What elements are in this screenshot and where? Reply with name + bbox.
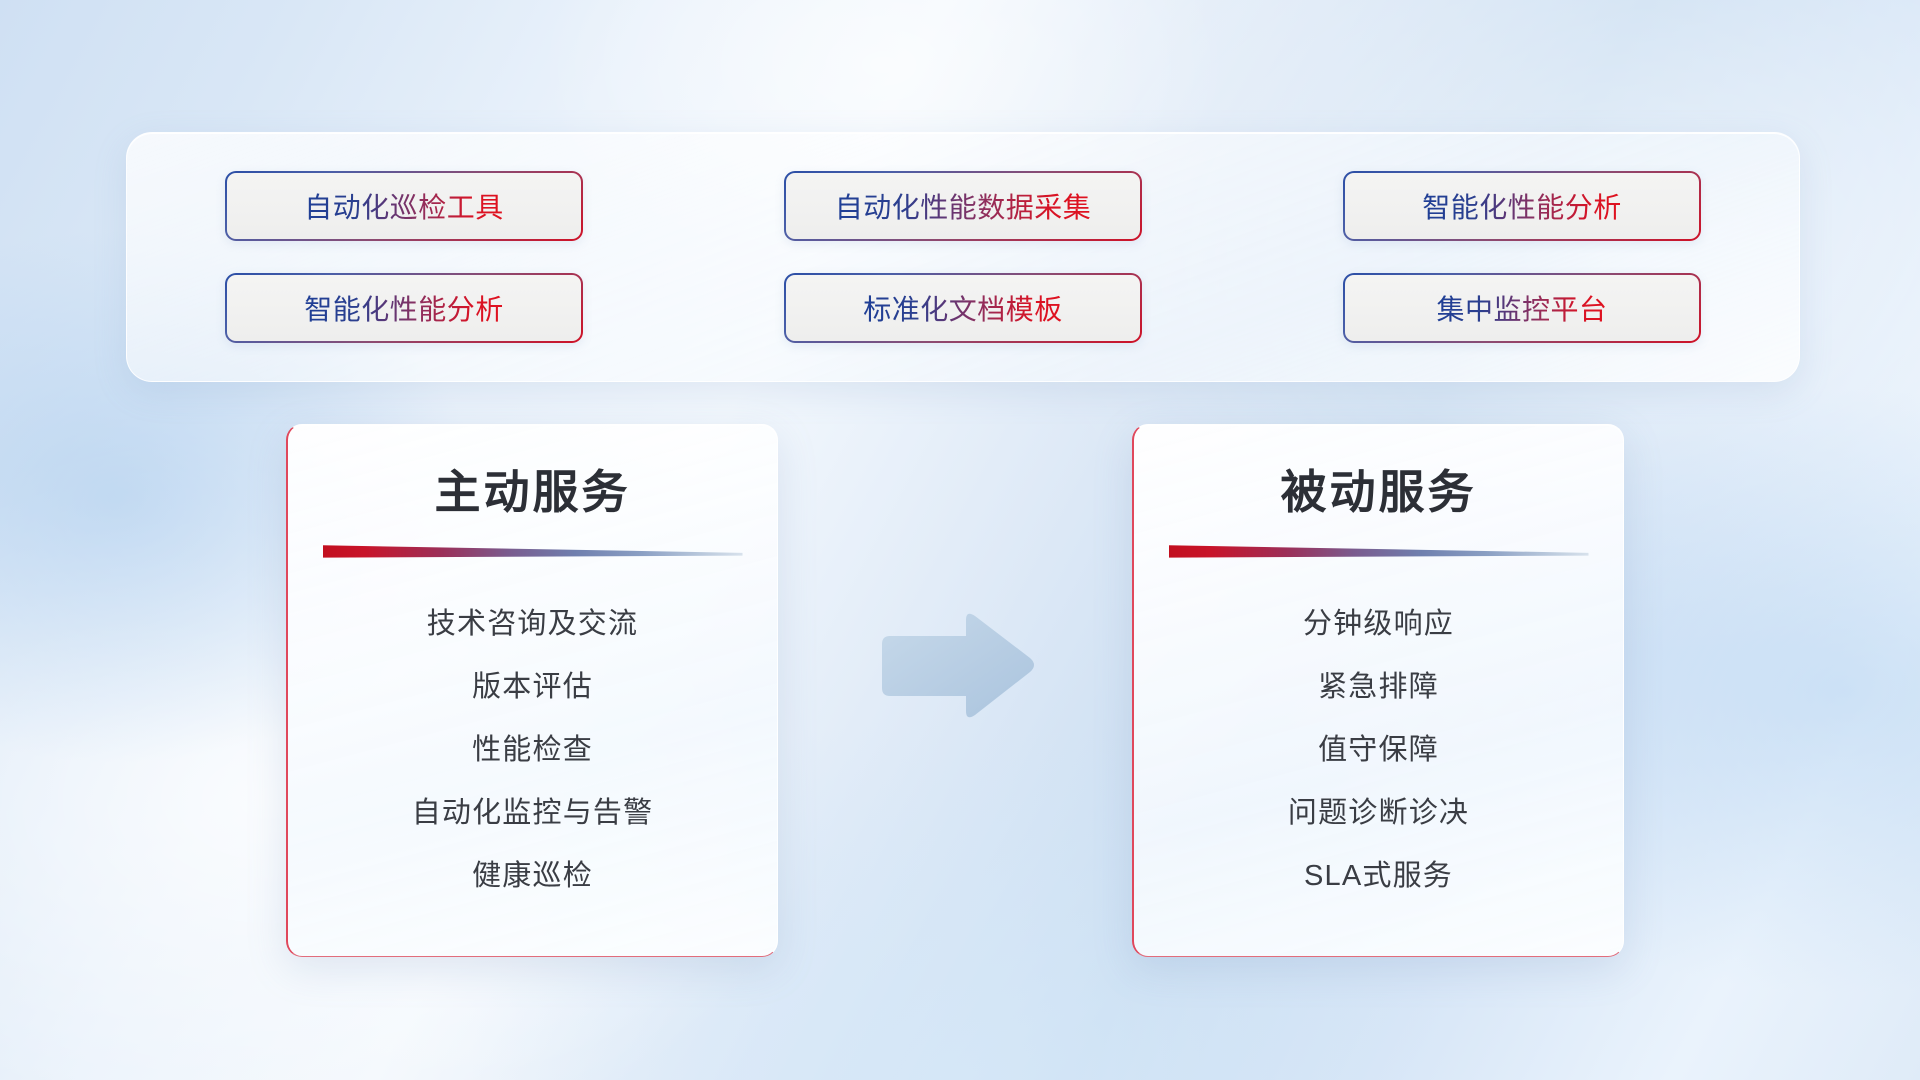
list-item: 版本评估 (472, 673, 593, 702)
capability-pill-intelligent-perf-analysis-2[interactable]: 智能化性能分析 (225, 273, 583, 343)
card-item-list: 分钟级响应 紧急排障 值守保障 问题诊断诊决 SLA式服务 (1134, 610, 1623, 891)
list-item: 分钟级响应 (1303, 610, 1454, 639)
capability-panel: 自动化巡检工具 自动化性能数据采集 智能化性能分析 智能化性能分析 (126, 132, 1800, 382)
list-item: 值守保障 (1318, 736, 1439, 765)
list-item: 紧急排障 (1318, 673, 1439, 702)
card-title-underline (1169, 544, 1589, 558)
service-card-reactive: 被动服务 分钟级响应 紧急排障 值守保障 问题诊断诊决 SLA式服务 (1132, 424, 1624, 957)
pill-inner: 自动化性能数据采集 (786, 173, 1140, 239)
list-item: SLA式服务 (1304, 862, 1453, 891)
slide-canvas: 自动化巡检工具 自动化性能数据采集 智能化性能分析 智能化性能分析 (0, 0, 1920, 1080)
list-item: 性能检查 (472, 736, 593, 765)
capability-pill-automated-inspection-tool[interactable]: 自动化巡检工具 (225, 171, 583, 241)
capability-row-1: 自动化巡检工具 自动化性能数据采集 智能化性能分析 (225, 171, 1701, 241)
list-item: 健康巡检 (472, 862, 593, 891)
list-item: 问题诊断诊决 (1288, 799, 1469, 828)
pill-inner: 集中监控平台 (1345, 275, 1699, 341)
card-title-underline (323, 544, 743, 558)
card-item-list: 技术咨询及交流 版本评估 性能检查 自动化监控与告警 健康巡检 (288, 610, 777, 891)
capability-pill-label: 自动化巡检工具 (304, 186, 504, 226)
capability-pill-label: 集中监控平台 (1436, 288, 1607, 328)
list-item: 自动化监控与告警 (412, 799, 654, 828)
pill-inner: 自动化巡检工具 (227, 173, 581, 239)
capability-pill-centralized-monitoring-platform[interactable]: 集中监控平台 (1343, 273, 1701, 343)
capability-pill-label: 标准化文档模板 (863, 288, 1063, 328)
capability-pill-intelligent-perf-analysis[interactable]: 智能化性能分析 (1343, 171, 1701, 241)
capability-pill-automated-perf-data-collection[interactable]: 自动化性能数据采集 (784, 171, 1142, 241)
pill-inner: 智能化性能分析 (1345, 173, 1699, 239)
capability-pill-label: 自动化性能数据采集 (835, 186, 1092, 226)
card-title: 被动服务 (1134, 467, 1623, 518)
pill-inner: 标准化文档模板 (786, 275, 1140, 341)
capability-pill-label: 智能化性能分析 (304, 288, 504, 328)
capability-row-2: 智能化性能分析 标准化文档模板 集中监控平台 (225, 273, 1701, 343)
list-item: 技术咨询及交流 (427, 610, 638, 639)
capability-pill-standardized-doc-template[interactable]: 标准化文档模板 (784, 273, 1142, 343)
pill-inner: 智能化性能分析 (227, 275, 581, 341)
service-card-proactive: 主动服务 技术咨询及交流 版本评估 性能检查 自动化监控与告警 健康巡检 (286, 424, 778, 957)
arrow-right-icon (874, 608, 1038, 724)
capability-pill-label: 智能化性能分析 (1422, 186, 1622, 226)
card-title: 主动服务 (288, 467, 777, 518)
